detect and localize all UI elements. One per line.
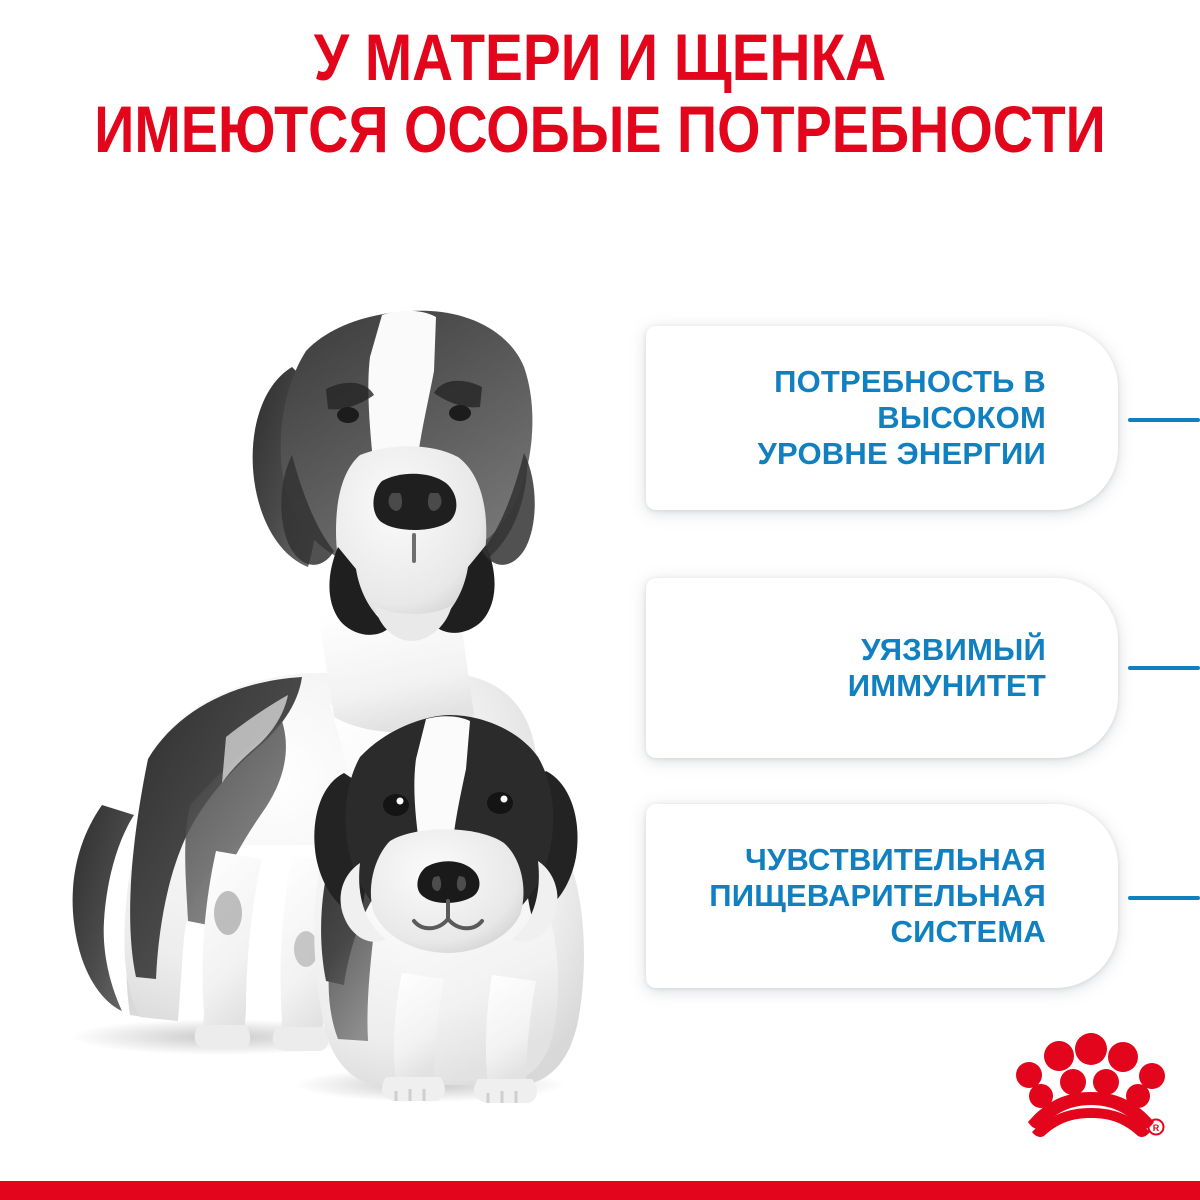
crown-dot-top-1 — [1016, 1062, 1042, 1088]
callouts-group: ПОТРЕБНОСТЬ В ВЫСОКОМ УРОВНЕ ЭНЕРГИИ УЯЗ… — [0, 0, 1200, 1200]
royal-canin-crown-logo: R — [1016, 1030, 1166, 1138]
svg-text:R: R — [1153, 1123, 1160, 1133]
crown-dot-top-2 — [1044, 1041, 1074, 1071]
connector-line-immunity — [1128, 666, 1200, 670]
callout-text-digestion: ЧУВСТВИТЕЛЬНАЯ ПИЩЕВАРИТЕЛЬНАЯ СИСТЕМА — [691, 842, 1118, 951]
crown-dot-top-3 — [1075, 1033, 1107, 1065]
callout-card-energy[interactable]: ПОТРЕБНОСТЬ В ВЫСОКОМ УРОВНЕ ЭНЕРГИИ — [646, 326, 1118, 510]
poster-canvas: У МАТЕРИ И ЩЕНКА ИМЕЮТСЯ ОСОБЫЕ ПОТРЕБНО… — [0, 0, 1200, 1200]
connector-line-energy — [1128, 418, 1200, 422]
registered-trademark-icon: R — [1149, 1120, 1164, 1135]
connector-line-digestion — [1128, 896, 1200, 900]
callout-card-immunity[interactable]: УЯЗВИМЫЙ ИММУНИТЕТ — [646, 578, 1118, 758]
callout-text-immunity: УЯЗВИМЫЙ ИММУНИТЕТ — [830, 632, 1118, 705]
footer-red-stripe — [0, 1181, 1200, 1200]
crown-dot-low-3 — [1093, 1069, 1119, 1095]
crown-dot-top-4 — [1108, 1042, 1138, 1072]
callout-card-digestion[interactable]: ЧУВСТВИТЕЛЬНАЯ ПИЩЕВАРИТЕЛЬНАЯ СИСТЕМА — [646, 804, 1118, 988]
crown-dot-low-2 — [1060, 1069, 1086, 1095]
callout-text-energy: ПОТРЕБНОСТЬ В ВЫСОКОМ УРОВНЕ ЭНЕРГИИ — [740, 364, 1118, 473]
